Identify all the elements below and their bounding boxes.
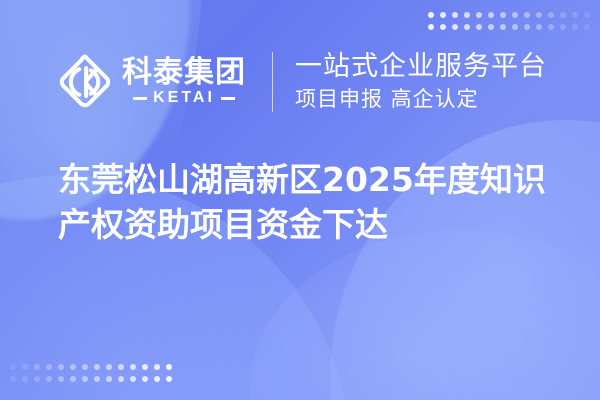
decor-dot [512,24,518,30]
decor-dot [572,12,578,18]
decor-dot [142,376,148,382]
brand-name-en-row: KETAI [133,90,235,106]
decor-dot [118,376,124,382]
decor-dot [154,376,160,382]
decor-dot [536,12,542,18]
decor-dot [452,12,458,18]
brand-name-cn: 科泰集团 [122,58,246,89]
decor-dot [548,12,554,18]
decor-dot [560,24,566,30]
brand-name-en: KETAI [153,90,215,106]
decor-dot [440,12,446,18]
decor-dot [560,12,566,18]
decor-dot [70,364,76,370]
decor-dot [154,364,160,370]
decor-dot [166,376,172,382]
decor-dot [34,364,40,370]
decor-dot [488,24,494,30]
decor-dot [130,364,136,370]
banner-header: 科泰集团 KETAI 一站式企业服务平台 项目申报 高企认定 [0,46,600,118]
decor-dot [106,364,112,370]
decor-dot [10,376,16,382]
decor-dot [46,364,52,370]
decor-dot [82,376,88,382]
tagline-sub: 项目申报 高企认定 [295,86,547,112]
decor-dot [22,376,28,382]
decor-dot [548,24,554,30]
decor-dot [166,364,172,370]
decor-dot [34,376,40,382]
decor-dot [10,364,16,370]
tagline-main: 一站式企业服务平台 [295,51,547,82]
decor-dot [22,364,28,370]
decor-dot [512,12,518,18]
decor-dot [94,376,100,382]
decor-dot [118,364,124,370]
decor-dot [428,24,434,30]
dot-grid-top-right [428,12,590,30]
decor-dot [524,12,530,18]
decor-dot [464,24,470,30]
page-title: 东莞松山湖高新区2025年度知识产权资助项目资金下达 [58,158,550,247]
decor-dot [584,24,590,30]
decor-dot [464,12,470,18]
decor-dot [82,364,88,370]
background-blob-sheen [250,230,600,400]
decor-dot [536,24,542,30]
decor-dot [500,24,506,30]
decor-dot [94,364,100,370]
header-divider [272,52,273,112]
promo-banner: 科泰集团 KETAI 一站式企业服务平台 项目申报 高企认定 东莞松山湖高新区2… [0,0,600,400]
decor-dot [584,12,590,18]
wordmark-rule-left-icon [133,97,147,100]
brand-logo[interactable]: 科泰集团 KETAI [56,53,246,111]
decor-dot [476,12,482,18]
decor-dot [58,364,64,370]
brand-wordmark: 科泰集团 KETAI [122,58,246,107]
decor-dot [488,12,494,18]
decor-dot [428,12,434,18]
decor-dot [440,24,446,30]
decor-dot [70,376,76,382]
dot-grid-bottom-left [10,364,172,382]
decor-dot [58,376,64,382]
decor-dot [500,12,506,18]
decor-dot [476,24,482,30]
decor-dot [46,376,52,382]
decor-dot [524,24,530,30]
decor-dot [572,24,578,30]
decor-dot [142,364,148,370]
ketai-diamond-kd-logo-icon [56,53,114,111]
decor-dot [130,376,136,382]
decor-dot [106,376,112,382]
wordmark-rule-right-icon [221,97,235,100]
tagline-block: 一站式企业服务平台 项目申报 高企认定 [295,51,547,112]
decor-dot [452,24,458,30]
